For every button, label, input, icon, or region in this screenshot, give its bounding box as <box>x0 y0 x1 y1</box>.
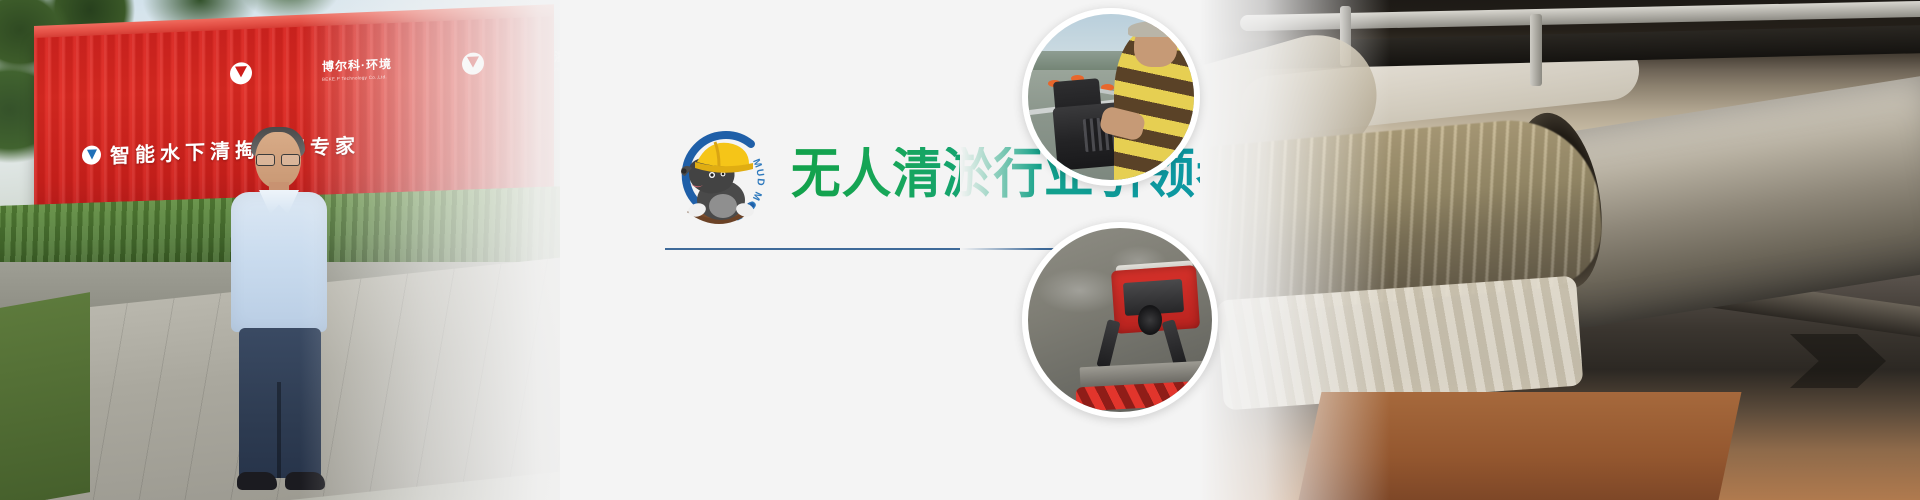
logo-mole-eye <box>710 173 713 176</box>
logo-mole-nose <box>681 168 686 173</box>
operator-control-console-photo <box>1022 8 1200 186</box>
boerke-logo-icon <box>230 62 252 85</box>
left-photo-fade <box>300 0 560 500</box>
pipe-photo-fade <box>1200 0 1390 500</box>
arrow-decoration-icon <box>1790 334 1886 388</box>
mud-mole-logo: MUD MOLE <box>665 118 773 230</box>
dredging-robot-photo <box>1022 222 1218 418</box>
right-photo-group <box>1200 0 1920 500</box>
slogan-badge-icon <box>82 145 101 165</box>
eyeglasses-icon <box>255 154 301 164</box>
robot-wheel <box>1138 305 1162 334</box>
grass-strip <box>0 292 90 500</box>
operator-cap <box>1128 21 1184 38</box>
hero-banner: 博尔科·环境 BEKE.P Technology Co.,Ltd. 浙江大学苏州… <box>0 0 1920 500</box>
logo-helmet <box>697 143 749 167</box>
logo-mole-belly <box>709 194 737 218</box>
engineer-leg-split <box>277 382 281 478</box>
handrail-post-right <box>1530 14 1542 86</box>
container-and-engineer-photo: 博尔科·环境 BEKE.P Technology Co.,Ltd. 浙江大学苏州… <box>0 0 560 500</box>
